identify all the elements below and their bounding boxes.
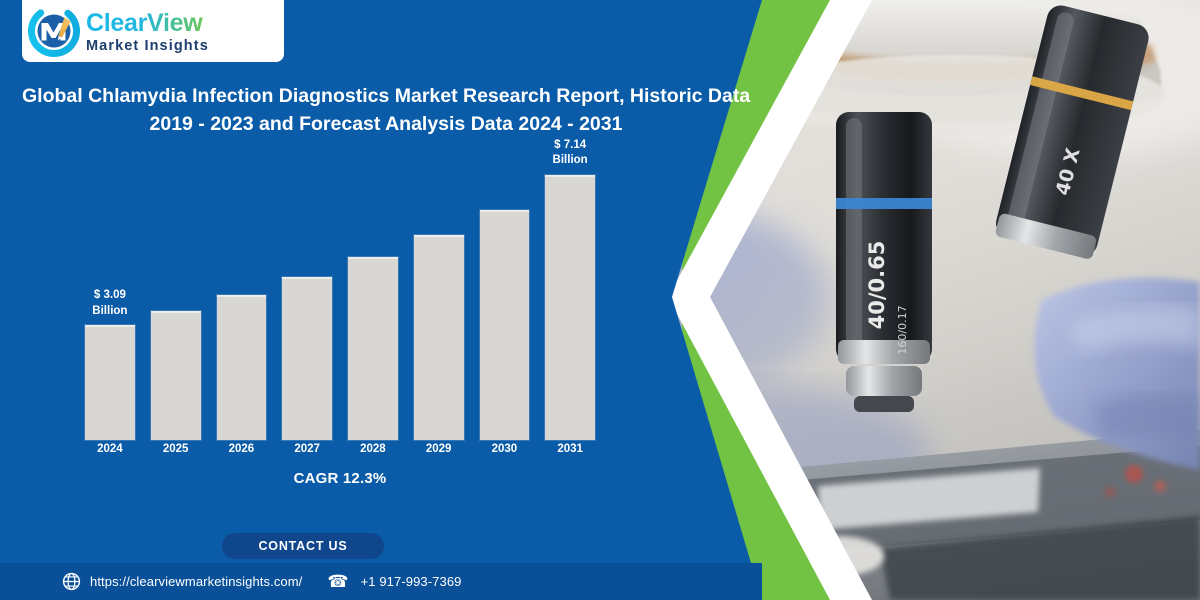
year-axis-label: 2024 bbox=[85, 443, 135, 455]
page-title: Global Chlamydia Infection Diagnostics M… bbox=[18, 82, 754, 139]
bar-column: $ 7.14Billion bbox=[545, 150, 595, 440]
year-axis-label: 2029 bbox=[414, 443, 464, 455]
chart-bar bbox=[282, 277, 332, 440]
year-axis-label: 2031 bbox=[545, 443, 595, 455]
page-title-line-1: Global Chlamydia Infection Diagnostics M… bbox=[18, 82, 754, 110]
chart-bar bbox=[545, 175, 595, 440]
year-axis-label: 2027 bbox=[282, 443, 332, 455]
clearview-monogram-icon bbox=[28, 5, 80, 57]
bar-column bbox=[151, 150, 201, 440]
year-axis-label: 2028 bbox=[348, 443, 398, 455]
logo-primary-text: ClearView bbox=[86, 11, 209, 36]
market-forecast-bar-chart: $ 3.09Billion$ 7.14Billion bbox=[85, 150, 595, 440]
contact-us-button[interactable]: CONTACT US bbox=[222, 533, 384, 559]
chart-bar bbox=[151, 311, 201, 440]
bar-column bbox=[217, 150, 267, 440]
bar-column bbox=[282, 150, 332, 440]
bar-value-label: $ 3.09Billion bbox=[92, 288, 127, 319]
chart-bar bbox=[480, 210, 530, 441]
telephone-icon: ☎ bbox=[327, 573, 348, 590]
phone-number-link[interactable]: +1 917-993-7369 bbox=[361, 574, 462, 589]
bar-column bbox=[480, 150, 530, 440]
page-title-line-2: 2019 - 2023 and Forecast Analysis Data 2… bbox=[18, 110, 754, 138]
chart-bar bbox=[348, 257, 398, 440]
chart-bar bbox=[85, 325, 135, 440]
bar-column bbox=[414, 150, 464, 440]
year-axis-label: 2030 bbox=[480, 443, 530, 455]
year-axis-label: 2026 bbox=[217, 443, 267, 455]
bar-column: $ 3.09Billion bbox=[85, 150, 135, 440]
bar-value-label: $ 7.14Billion bbox=[553, 138, 588, 169]
bar-value-unit: Billion bbox=[553, 153, 588, 169]
bar-chart-bars: $ 3.09Billion$ 7.14Billion bbox=[85, 150, 595, 440]
bar-value-amount: $ 7.14 bbox=[553, 138, 588, 154]
brand-logo[interactable]: ClearView Market Insights bbox=[22, 0, 284, 62]
cagr-annotation: CAGR 12.3% bbox=[85, 470, 595, 487]
bar-column bbox=[348, 150, 398, 440]
year-axis-label: 2025 bbox=[151, 443, 201, 455]
bar-chart-year-axis: 20242025202620272028202920302031 bbox=[85, 443, 595, 455]
bar-value-amount: $ 3.09 bbox=[92, 288, 127, 304]
globe-icon bbox=[62, 572, 81, 591]
chart-bar bbox=[217, 295, 267, 440]
chart-bar bbox=[414, 235, 464, 440]
website-url-link[interactable]: https://clearviewmarketinsights.com/ bbox=[90, 574, 302, 589]
logo-secondary-text: Market Insights bbox=[86, 39, 209, 54]
bar-value-unit: Billion bbox=[92, 304, 127, 320]
footer-bar: https://clearviewmarketinsights.com/ ☎ +… bbox=[0, 563, 762, 600]
